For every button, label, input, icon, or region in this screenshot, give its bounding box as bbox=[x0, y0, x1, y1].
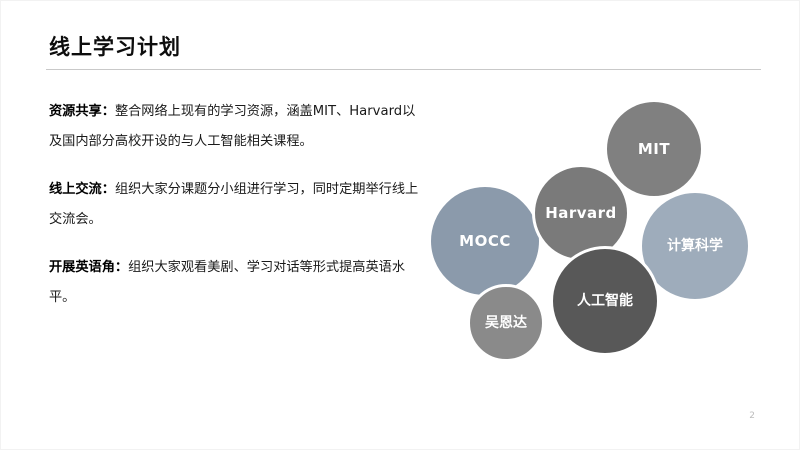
paragraph-lead: 线上交流： bbox=[49, 182, 115, 197]
bubble-diagram: MOCC 计算科学 MIT Harvard 吴恩达 人工智能 bbox=[419, 85, 779, 375]
paragraph-online-exchange: 线上交流：组织大家分课题分小组进行学习，同时定期举行线上交流会。 bbox=[49, 175, 421, 235]
bubble-label-mit: MIT bbox=[638, 142, 670, 157]
slide-canvas: 线上学习计划 资源共享：整合网络上现有的学习资源，涵盖MIT、Harvard以及… bbox=[0, 0, 800, 450]
bubble-label-harvard: Harvard bbox=[545, 206, 617, 221]
bubble-wu-enda: 吴恩达 bbox=[467, 284, 545, 362]
paragraph-english-corner: 开展英语角：组织大家观看美剧、学习对话等形式提高英语水平。 bbox=[49, 253, 421, 313]
bubble-label-wu-enda: 吴恩达 bbox=[485, 316, 527, 330]
page-number: 2 bbox=[749, 411, 755, 421]
paragraph-lead: 开展英语角： bbox=[49, 260, 128, 275]
title-divider bbox=[46, 69, 761, 70]
bubble-label-mocc: MOCC bbox=[459, 234, 511, 249]
bubble-label-artificial-intelligence: 人工智能 bbox=[577, 294, 633, 308]
paragraph-lead: 资源共享： bbox=[49, 104, 115, 119]
bubble-artificial-intelligence: 人工智能 bbox=[550, 246, 660, 356]
body-text-column: 资源共享：整合网络上现有的学习资源，涵盖MIT、Harvard以及国内部分高校开… bbox=[49, 97, 421, 313]
bubble-label-computer-science: 计算科学 bbox=[667, 239, 723, 253]
bubble-mocc: MOCC bbox=[428, 184, 542, 298]
page-title: 线上学习计划 bbox=[49, 31, 181, 61]
paragraph-resource-sharing: 资源共享：整合网络上现有的学习资源，涵盖MIT、Harvard以及国内部分高校开… bbox=[49, 97, 421, 157]
